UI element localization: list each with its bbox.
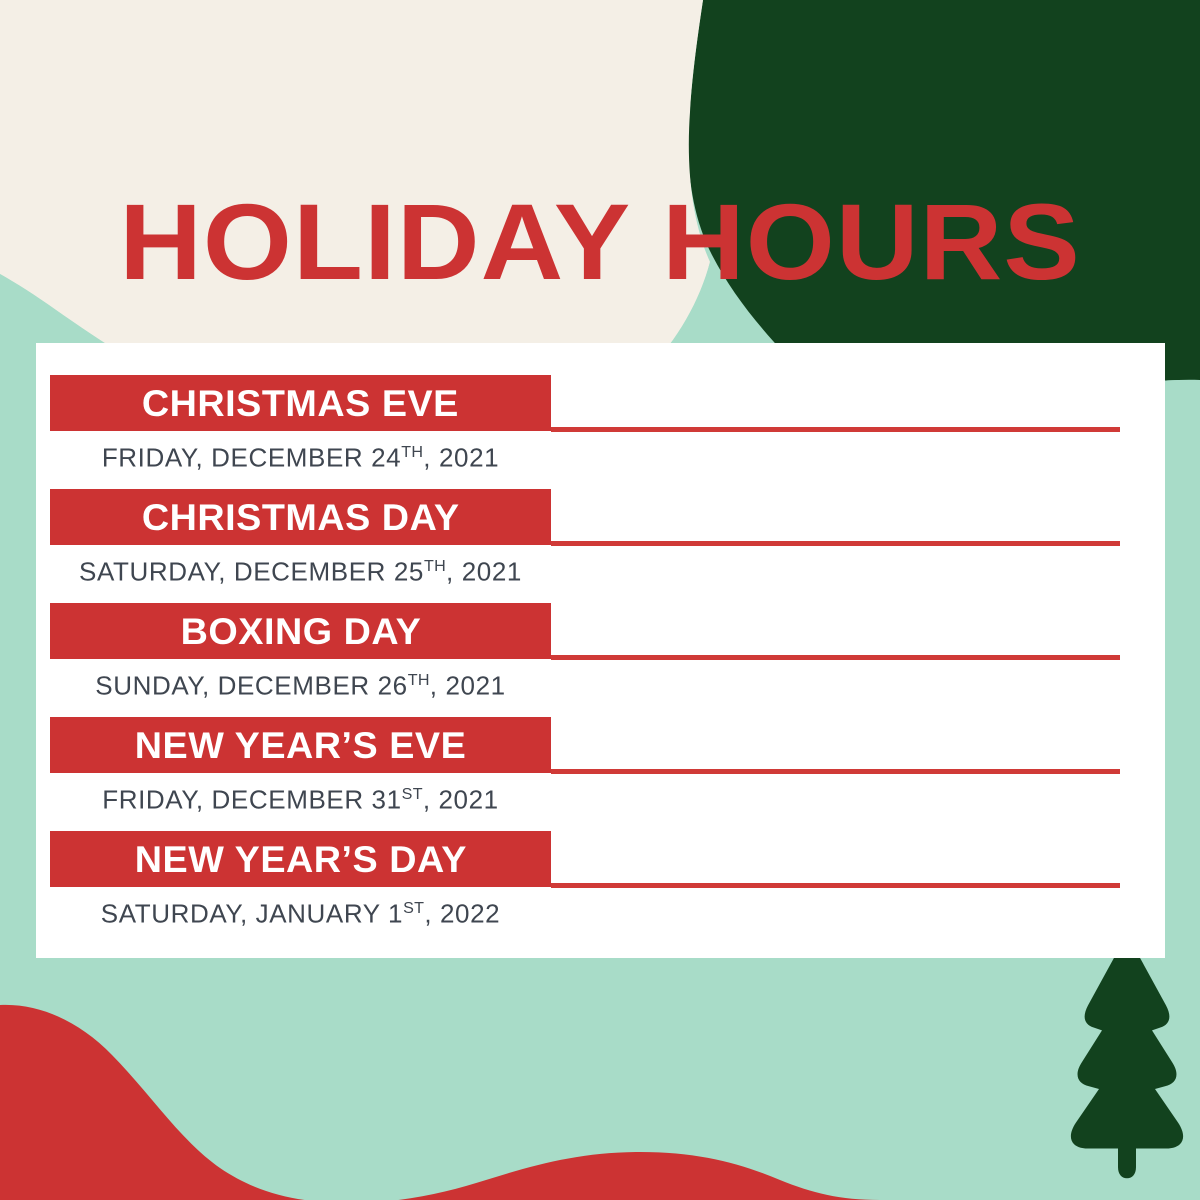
table-row: NEW YEAR’S DAY SATURDAY, JANUARY 1ST, 20… [36,831,1165,931]
hours-write-in-rule [551,769,1120,774]
date-prefix: SATURDAY, JANUARY 1 [101,899,403,929]
holiday-banner: CHRISTMAS DAY [50,489,551,545]
holiday-banner: CHRISTMAS EVE [50,375,551,431]
page-title: HOLIDAY HOURS [0,186,1200,298]
table-row: CHRISTMAS DAY SATURDAY, DECEMBER 25TH, 2… [36,489,1165,589]
holiday-banner: BOXING DAY [50,603,551,659]
hours-write-in-rule [551,883,1120,888]
holiday-date: FRIDAY, DECEMBER 24TH, 2021 [50,435,551,475]
holiday-banner: NEW YEAR’S DAY [50,831,551,887]
hours-write-in-rule [551,427,1120,432]
holiday-name: NEW YEAR’S EVE [135,727,467,764]
date-prefix: SATURDAY, DECEMBER 25 [79,557,424,587]
holiday-name: CHRISTMAS EVE [142,385,459,422]
date-ordinal: ST [402,785,423,803]
date-ordinal: TH [401,443,423,461]
date-suffix: , 2021 [423,443,499,473]
hours-write-in-rule [551,541,1120,546]
holiday-banner: NEW YEAR’S EVE [50,717,551,773]
holiday-name: NEW YEAR’S DAY [134,841,466,878]
date-suffix: , 2021 [446,557,522,587]
date-prefix: FRIDAY, DECEMBER 31 [102,785,401,815]
date-suffix: , 2022 [424,899,500,929]
holiday-date: SATURDAY, DECEMBER 25TH, 2021 [50,549,551,589]
holiday-date: SATURDAY, JANUARY 1ST, 2022 [50,891,551,931]
holiday-name: BOXING DAY [180,613,421,650]
holiday-date: FRIDAY, DECEMBER 31ST, 2021 [50,777,551,817]
date-prefix: FRIDAY, DECEMBER 24 [102,443,401,473]
date-ordinal: TH [408,671,430,689]
table-row: CHRISTMAS EVE FRIDAY, DECEMBER 24TH, 202… [36,375,1165,475]
table-row: BOXING DAY SUNDAY, DECEMBER 26TH, 2021 [36,603,1165,703]
table-row: NEW YEAR’S EVE FRIDAY, DECEMBER 31ST, 20… [36,717,1165,817]
hours-write-in-rule [551,655,1120,660]
holiday-name: CHRISTMAS DAY [142,499,460,536]
date-prefix: SUNDAY, DECEMBER 26 [95,671,407,701]
date-ordinal: ST [403,899,424,917]
hours-card: CHRISTMAS EVE FRIDAY, DECEMBER 24TH, 202… [36,343,1165,958]
date-ordinal: TH [424,557,446,575]
date-suffix: , 2021 [430,671,506,701]
holiday-hours-poster: HOLIDAY HOURS CHRISTMAS EVE FRIDAY, DECE… [0,0,1200,1200]
holiday-date: SUNDAY, DECEMBER 26TH, 2021 [50,663,551,703]
date-suffix: , 2021 [423,785,499,815]
